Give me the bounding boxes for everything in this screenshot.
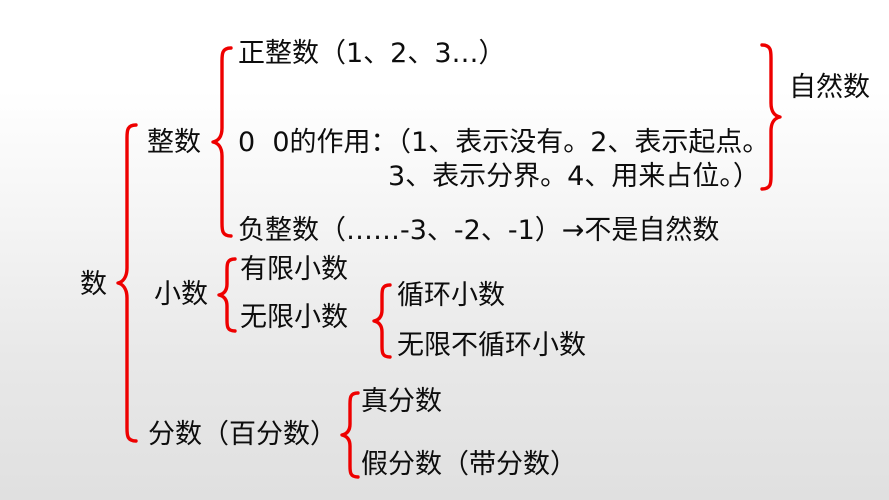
node-integer: 整数: [147, 127, 201, 159]
slide-canvas: 数 整数 正整数（1、2、3…） 0 0的作用：（1、表示没有。2、表示起点。 …: [0, 0, 889, 500]
root-brace: [116, 122, 138, 444]
node-fraction: 分数（百分数）: [148, 419, 337, 451]
node-root: 数: [80, 269, 107, 301]
node-positive-integer: 正整数（1、2、3…）: [238, 38, 506, 70]
node-zero-note-line2: 3、表示分界。4、用来占位。）: [388, 161, 760, 193]
decimal-brace: [217, 256, 237, 334]
node-infinite-decimal: 无限小数: [240, 302, 348, 334]
node-zero-note-line1: 0 0的作用：（1、表示没有。2、表示起点。: [238, 127, 769, 159]
natural-number-brace: [760, 42, 782, 194]
node-natural-number: 自然数: [789, 72, 870, 104]
infinite-decimal-brace: [372, 282, 392, 360]
node-negative-integer: 负整数（……-3、-2、-1）→不是自然数: [238, 215, 719, 247]
node-proper-fraction: 真分数: [361, 386, 442, 418]
node-improper-fraction: 假分数（带分数）: [361, 449, 577, 481]
node-repeating-decimal: 循环小数: [397, 280, 505, 312]
node-finite-decimal: 有限小数: [240, 254, 348, 286]
fraction-brace: [340, 390, 360, 480]
node-decimal: 小数: [154, 279, 208, 311]
node-non-repeating-decimal: 无限不循环小数: [397, 330, 586, 362]
integer-brace: [211, 45, 233, 241]
